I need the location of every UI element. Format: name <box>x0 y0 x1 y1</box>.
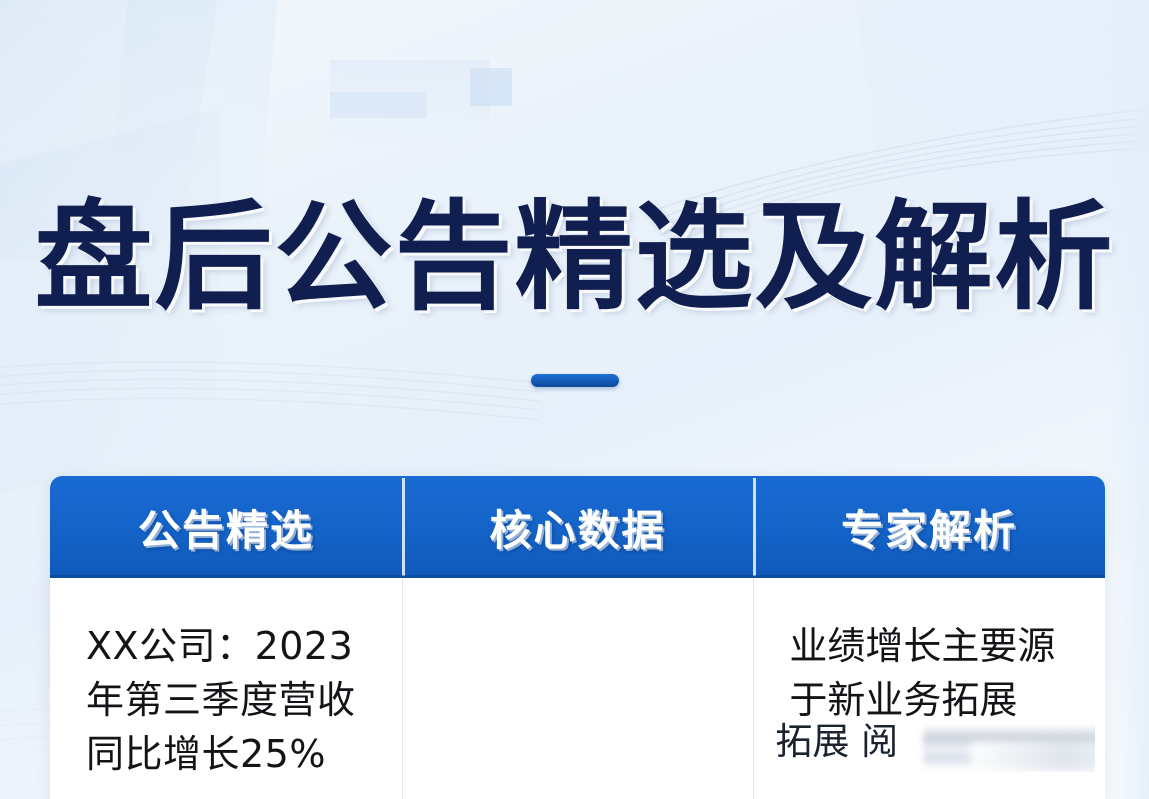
wave-lines-mid-left-icon <box>0 350 540 470</box>
decor-panel-d <box>330 60 490 150</box>
blur-redaction-bar-secondary <box>971 742 1095 772</box>
blur-redaction-bar <box>923 726 1095 768</box>
page-right-edge-gradient <box>1105 0 1149 799</box>
table-cell-announcement: XX公司：2023年第三季度营收同比增长25% <box>50 578 402 799</box>
decor-panel-e <box>470 68 512 106</box>
title-underline-divider <box>531 374 619 387</box>
poster-title-block: 盘后公告精选及解析 <box>0 196 1149 319</box>
announcement-table: 公告精选 核心数据 专家解析 XX公司：2023年第三季度营收同比增长25% 业… <box>50 476 1105 799</box>
decor-panel-f <box>330 92 426 118</box>
table-cell-expert-analysis: 业绩增长主要源于新业务拓展 拓展 阅 <box>753 578 1105 799</box>
expert-analysis-text: 业绩增长主要源于新业务拓展 <box>789 620 1075 728</box>
table-header-cell-announcement-picks[interactable]: 公告精选 <box>50 476 402 578</box>
announcement-text: XX公司：2023年第三季度营收同比增长25% <box>86 620 372 782</box>
table-header-row: 公告精选 核心数据 专家解析 <box>50 476 1105 578</box>
table-row: XX公司：2023年第三季度营收同比增长25% 业绩增长主要源于新业务拓展 拓展… <box>50 578 1105 799</box>
poster-canvas: 盘后公告精选及解析 公告精选 核心数据 专家解析 XX公司：2023年第三季度营… <box>0 0 1149 799</box>
table-header-cell-expert-analysis[interactable]: 专家解析 <box>753 476 1105 578</box>
table-header-label: 核心数据 <box>490 497 666 558</box>
page-title: 盘后公告精选及解析 <box>0 196 1149 319</box>
table-header-cell-core-data[interactable]: 核心数据 <box>402 476 754 578</box>
table-header-label: 专家解析 <box>841 497 1017 558</box>
table-header-label: 公告精选 <box>138 497 314 558</box>
table-cell-core-data <box>402 578 754 799</box>
